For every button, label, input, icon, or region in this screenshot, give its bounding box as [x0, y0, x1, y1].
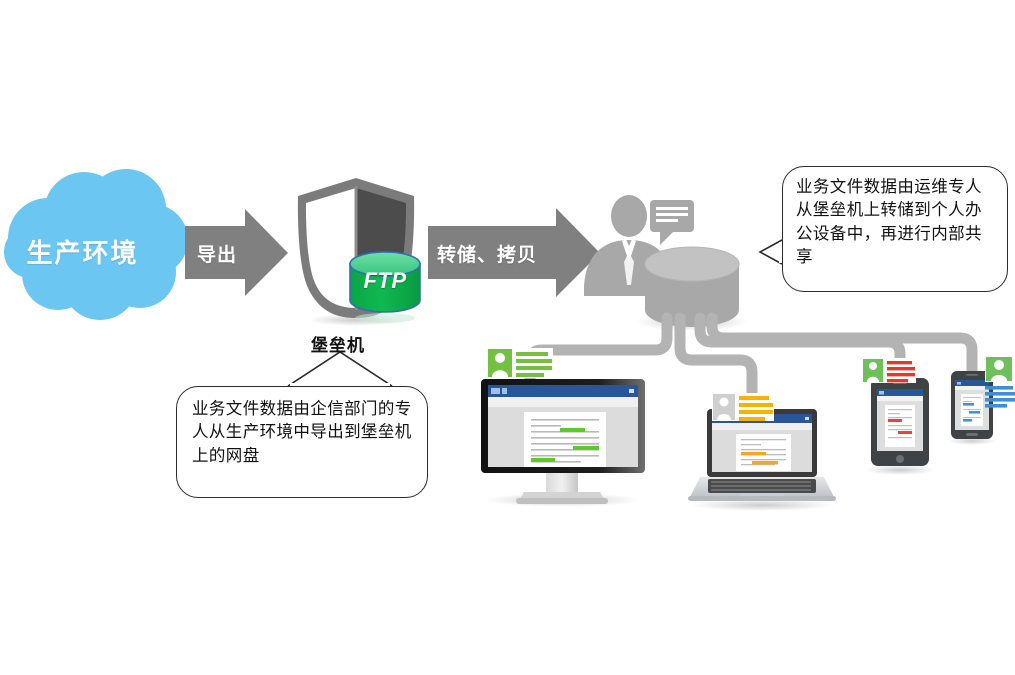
tablet-shape	[866, 378, 934, 475]
phone-user-card-icon	[985, 356, 1015, 408]
desktop-monitor-shape	[481, 379, 645, 507]
diagram-artwork	[0, 0, 1015, 675]
laptop-user-card-icon	[712, 393, 774, 421]
speech-bubble-icon	[650, 200, 694, 245]
ftp-database-label: FTP	[352, 268, 418, 294]
export-arrow-label: 导出	[197, 240, 237, 267]
callout-left-text: 业务文件数据由企信部门的专人从生产环境中导出到堡垒机上的网盘	[176, 386, 428, 498]
tablet-user-card-icon	[862, 358, 916, 383]
laptop-shape	[688, 409, 836, 511]
storage-hub-shape	[636, 247, 748, 331]
diagram-canvas: 生产环境 导出 转储、拷贝 FTP 堡垒机 业务文件数据由运维专人从堡垒机上转储…	[0, 0, 1015, 675]
callout-right-text: 业务文件数据由运维专人从堡垒机上转储到个人办公设备中，再进行内部共享	[782, 166, 1008, 292]
smartphone-shape	[948, 371, 996, 445]
bastion-host-label: 堡垒机	[273, 331, 403, 356]
desktop-user-card-icon	[487, 348, 553, 378]
transfer-arrow-label: 转储、拷贝	[437, 240, 537, 267]
production-cloud-shape	[4, 169, 188, 320]
